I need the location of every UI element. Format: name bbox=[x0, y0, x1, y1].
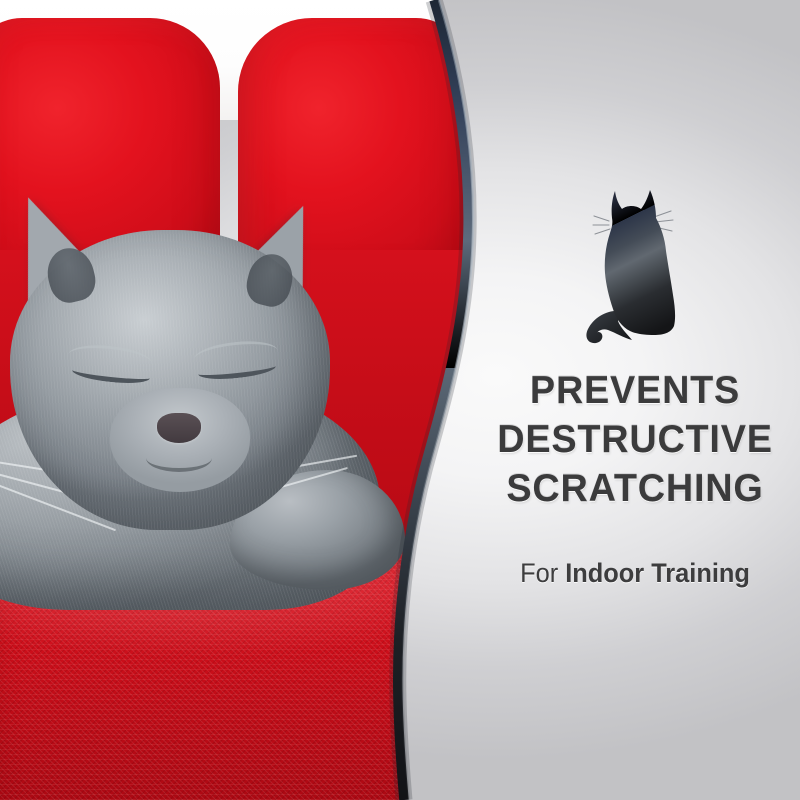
sleeping-cat-photo bbox=[0, 170, 430, 590]
product-banner: PREVENTS DESTRUCTIVE SCRATCHING For Indo… bbox=[0, 0, 800, 800]
cat-silhouette-icon bbox=[570, 185, 700, 350]
subtitle-prefix: For bbox=[520, 558, 565, 588]
message-panel: PREVENTS DESTRUCTIVE SCRATCHING For Indo… bbox=[470, 0, 800, 800]
cat-nose bbox=[157, 413, 201, 443]
headline-line-3: SCRATCHING bbox=[465, 464, 800, 513]
cat-icon-body bbox=[605, 190, 675, 335]
cat-icon-whiskers-left bbox=[593, 216, 610, 234]
headline-line-1: PREVENTS bbox=[465, 366, 800, 415]
subtitle: For Indoor Training bbox=[471, 556, 800, 590]
subtitle-emphasis: Indoor Training bbox=[565, 558, 750, 588]
headline: PREVENTS DESTRUCTIVE SCRATCHING bbox=[465, 366, 800, 513]
cat-mouth bbox=[146, 444, 212, 472]
headline-line-2: DESTRUCTIVE bbox=[465, 415, 800, 464]
